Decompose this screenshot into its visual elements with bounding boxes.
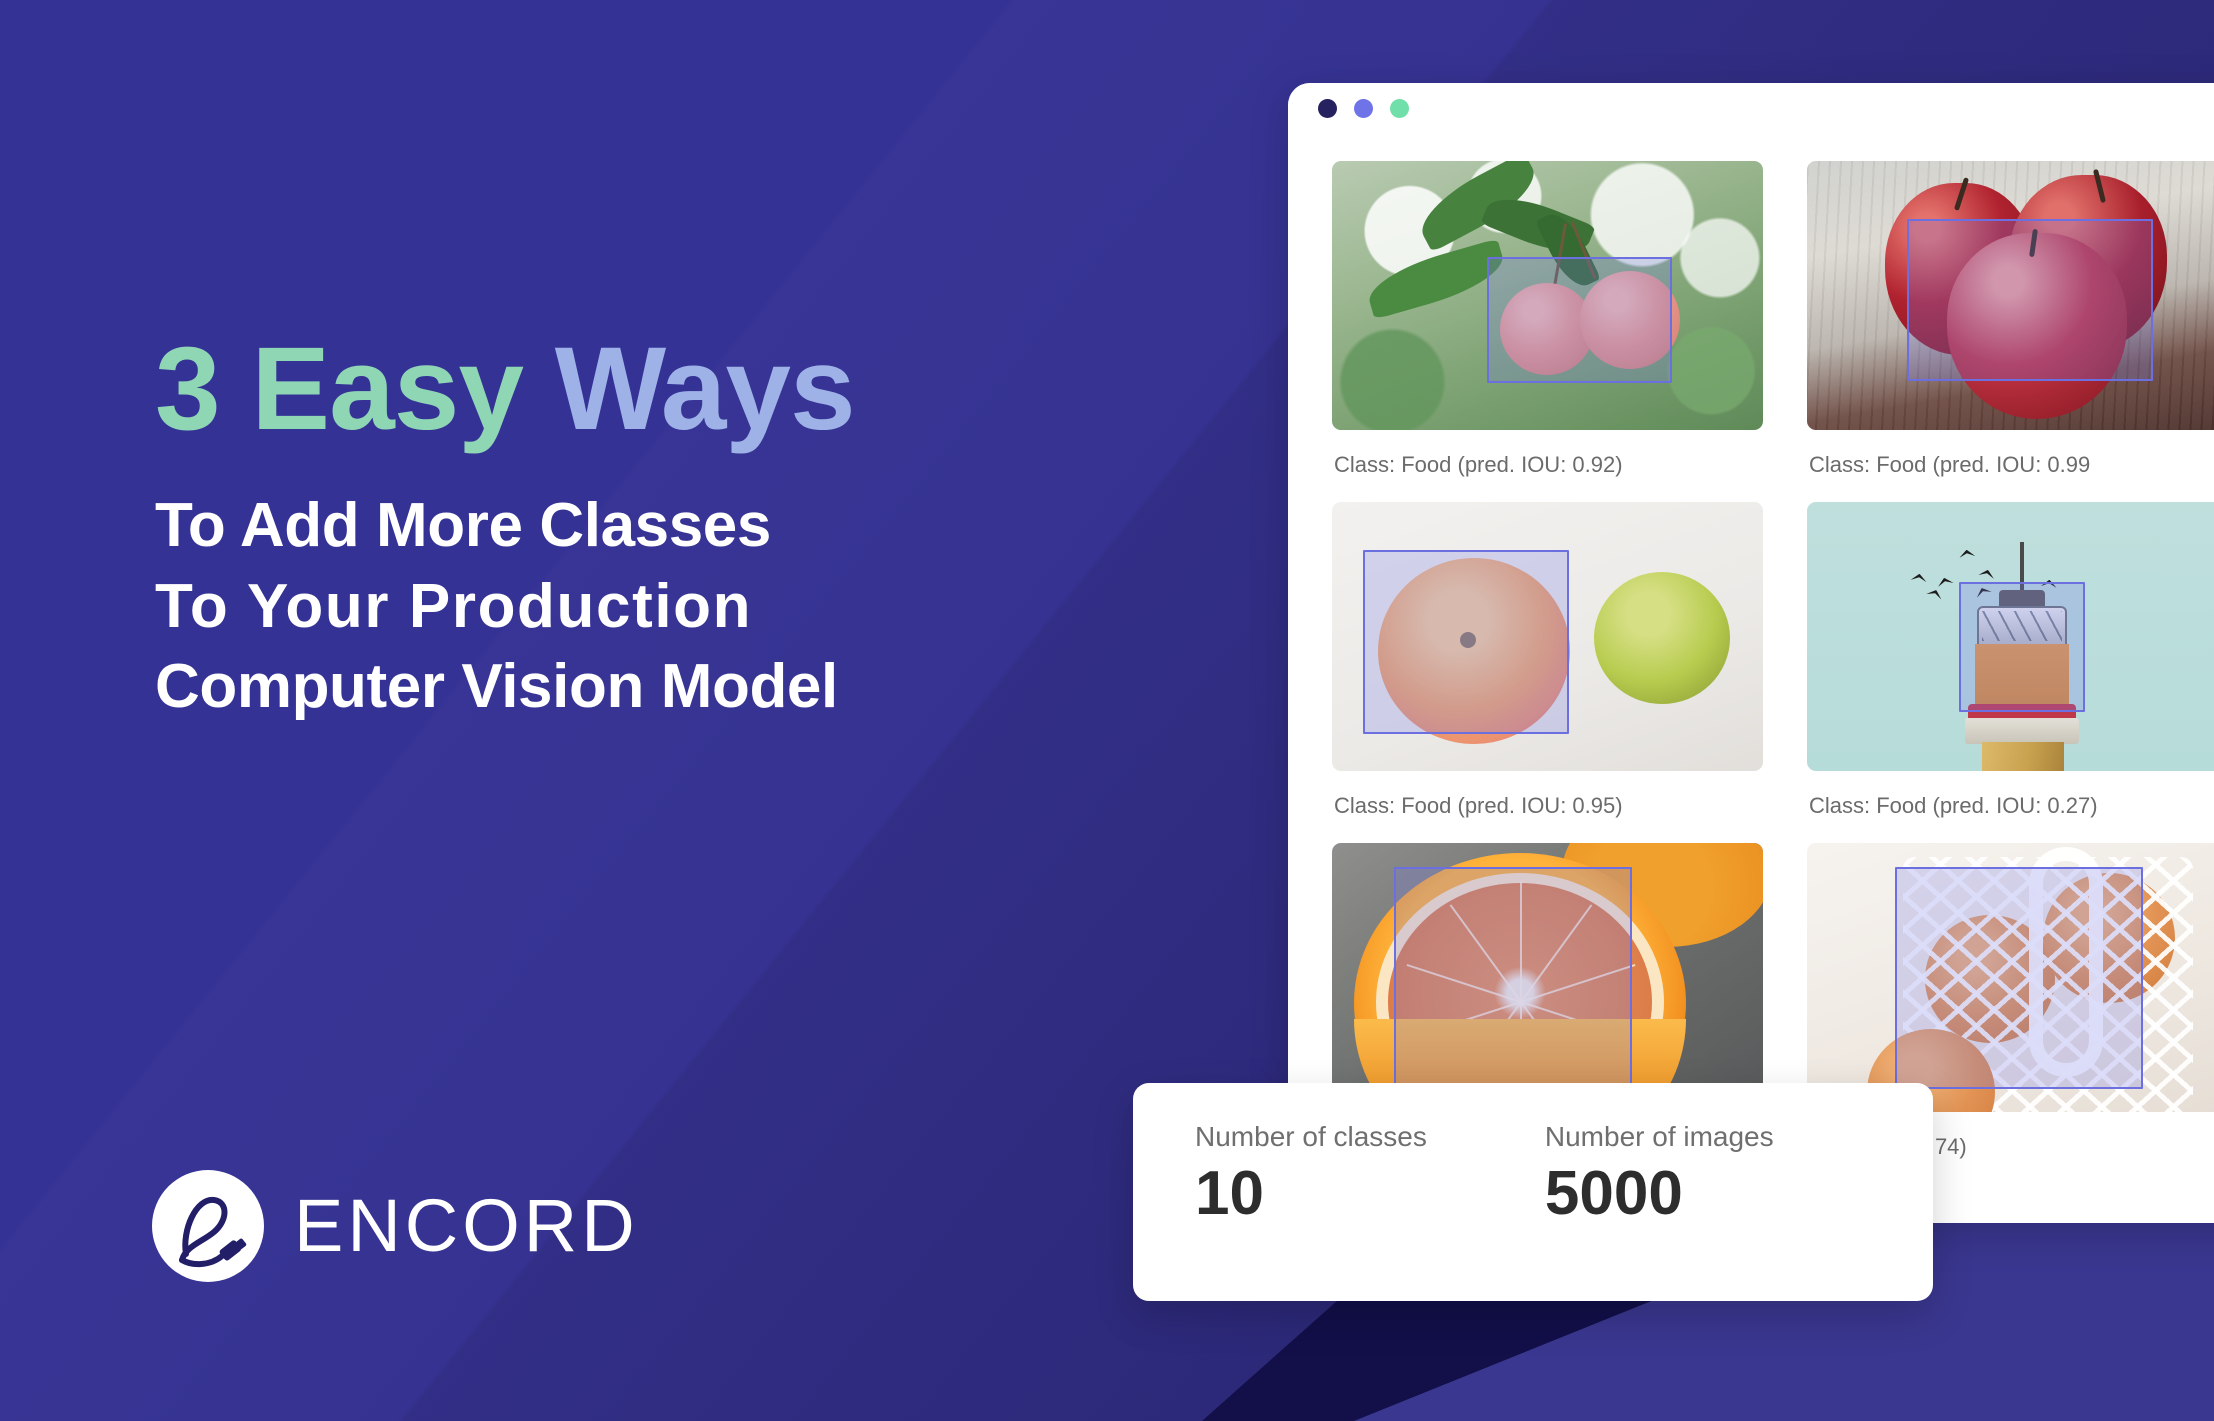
subheading-line-2: To Your Production [155,567,1175,648]
stat-value: 10 [1195,1159,1427,1228]
gallery-item-caption: Class: Food (pred. IOU: 0.99 [1807,430,2214,502]
thumbnail-apples[interactable] [1807,161,2214,430]
subheading-line-1: To Add More Classes [155,486,1175,567]
stat-value: 5000 [1545,1159,1774,1228]
gallery-item[interactable]: Class: Food (pred. IOU: 0.27) [1807,502,2214,843]
bird-icon [1959,549,1976,558]
browser-window-mockup: Class: Food (pred. IOU: 0.92) Class: Foo… [1288,83,2214,1223]
stat-label: Number of classes [1195,1121,1427,1153]
thumbnail-lighthouse[interactable] [1807,502,2214,771]
lighthouse-balcony [1965,718,2079,744]
bounding-box[interactable] [1959,582,2085,712]
bounding-box[interactable] [1487,257,1672,383]
thumbnail-orange-half[interactable] [1332,843,1763,1112]
bounding-box[interactable] [1895,867,2143,1089]
bounding-box[interactable] [1394,867,1632,1112]
bird-icon [1936,576,1953,587]
gallery-item-caption: Class: Food (pred. IOU: 0.95) [1332,771,1763,843]
bounding-box[interactable] [1363,550,1569,734]
gallery-item-caption: Class: Food (pred. IOU: 0.27) [1807,771,2214,843]
stat-number-of-images: Number of images 5000 [1545,1121,1774,1301]
browser-toolbar [1288,123,2214,163]
minimize-dot-icon[interactable] [1354,99,1373,118]
stat-label: Number of images [1545,1121,1774,1153]
gallery-item[interactable]: Class: Food (pred. IOU: 0.95) [1332,502,1763,843]
bird-icon [1911,573,1928,582]
headline-part-mint: 3 Easy [155,323,555,455]
encord-e-cord-icon [152,1170,264,1282]
gallery-item[interactable]: Class: Food (pred. IOU: 0.92) [1332,161,1763,502]
thumbnail-mesh-bag[interactable] [1807,843,2214,1112]
hero-text-column: 3 Easy Ways To Add More Classes To Your … [155,330,1175,728]
maximize-dot-icon[interactable] [1390,99,1409,118]
thumbnail-cherries[interactable] [1332,161,1763,430]
headline-part-periwinkle: Ways [555,323,855,455]
stat-number-of-classes: Number of classes 10 [1195,1121,1427,1301]
bounding-box[interactable] [1907,219,2153,381]
annotated-image-gallery: Class: Food (pred. IOU: 0.92) Class: Foo… [1332,161,2214,1184]
page-title: 3 Easy Ways [155,330,1175,448]
window-controls [1318,99,1409,118]
bird-icon [1978,568,1995,579]
subheading-line-3: Computer Vision Model [155,647,1175,728]
gallery-item-caption: Class: Food (pred. IOU: 0.92) [1332,430,1763,502]
logo-wordmark: ENCORD [294,1189,639,1263]
lime-shape [1594,572,1730,704]
thumbnail-citrus[interactable] [1332,502,1763,771]
bird-icon [1926,587,1943,599]
gallery-item[interactable]: Class: Food (pred. IOU: 0.99 [1807,161,2214,502]
close-dot-icon[interactable] [1318,99,1337,118]
lighthouse-tower [1982,742,2064,771]
brand-logo: ENCORD [152,1170,639,1282]
dataset-stats-card: Number of classes 10 Number of images 50… [1133,1083,1933,1301]
